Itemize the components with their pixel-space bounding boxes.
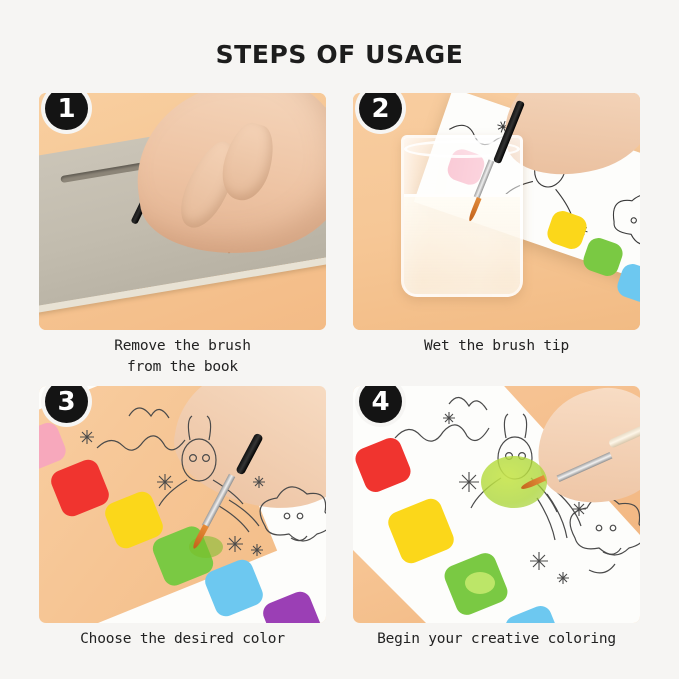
step-3-photo: 3 <box>39 386 326 623</box>
page-title: STEPS OF USAGE <box>0 40 679 69</box>
step-caption-4: Begin your creative coloring <box>353 629 640 650</box>
step-2-photo: 2 <box>353 93 640 330</box>
step-card-2: 2 Wet the brush tip <box>353 93 640 378</box>
step-caption-3: Choose the desired color <box>39 629 326 650</box>
steps-grid: 1 Remove the brush from the book <box>39 93 640 671</box>
step-1-photo: 1 <box>39 93 326 330</box>
step-caption-2: Wet the brush tip <box>353 336 640 357</box>
step-4-photo: 4 <box>353 386 640 623</box>
steps-of-usage-page: STEPS OF USAGE 1 Remove the <box>0 0 679 679</box>
wet-paint-highlight <box>465 572 495 594</box>
water <box>404 194 520 294</box>
step-card-3: 3 Choose the desired color <box>39 386 326 671</box>
step-card-4: 4 Begin your creative coloring <box>353 386 640 671</box>
step-card-1: 1 Remove the brush from the book <box>39 93 326 378</box>
water-glass <box>401 135 523 297</box>
step-caption-1: Remove the brush from the book <box>39 336 326 378</box>
